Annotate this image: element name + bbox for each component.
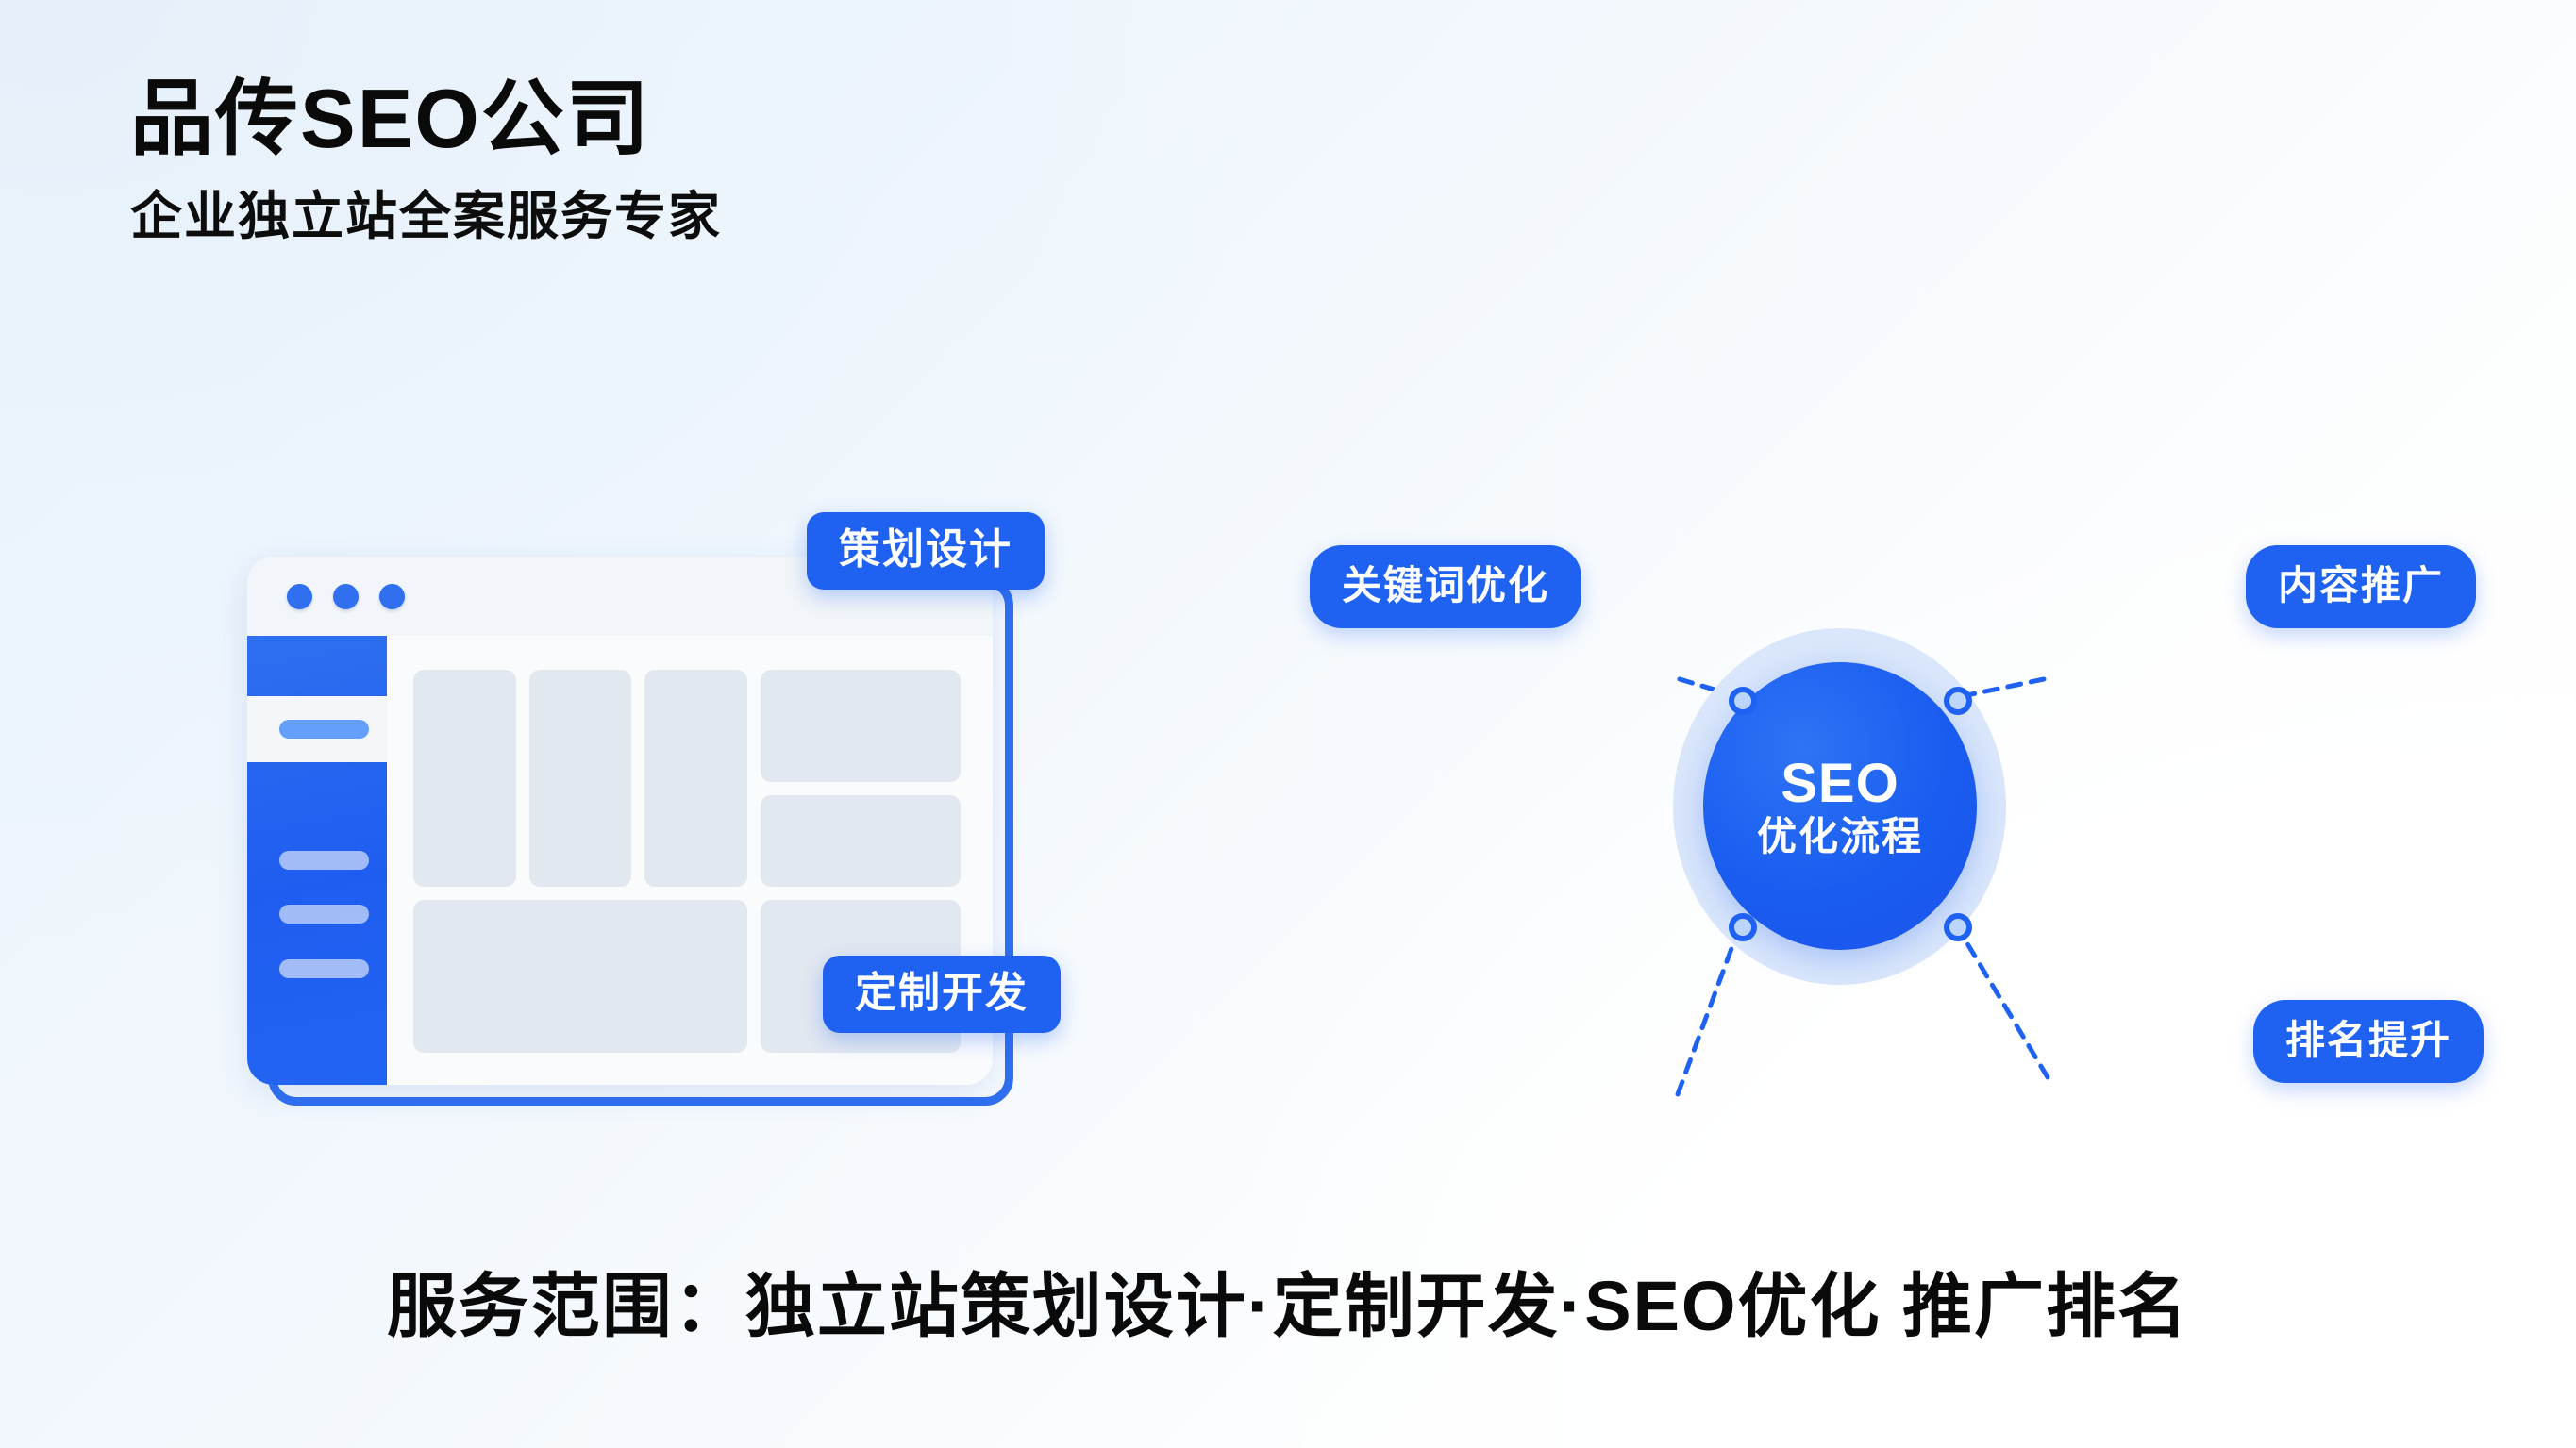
content-card-3 <box>644 670 747 887</box>
page-title: 品传SEO公司 <box>130 74 722 163</box>
header-block: 品传SEO公司 企业独立站全案服务专家 <box>130 74 722 245</box>
browser-sidebar <box>247 636 387 1085</box>
seo-center-subtitle: 优化流程 <box>1757 817 1923 857</box>
sidebar-item-2 <box>279 851 369 870</box>
content-card-2 <box>529 670 632 887</box>
content-card-5 <box>761 795 961 887</box>
sidebar-item-3 <box>279 905 369 924</box>
content-card-4 <box>761 670 961 782</box>
window-dot-icon-3 <box>379 584 405 609</box>
badge-custom-development[interactable]: 定制开发 <box>823 956 1061 1033</box>
node-bottom-left-icon <box>1729 913 1757 941</box>
content-card-1 <box>413 670 516 887</box>
content-card-6 <box>413 900 747 1053</box>
content-card-stack <box>761 670 961 887</box>
window-dot-icon-1 <box>287 584 312 609</box>
seo-label-content-promotion[interactable]: 内容推广 <box>2246 545 2476 628</box>
sidebar-item-bar-icon <box>279 720 369 739</box>
seo-process-diagram: SEO 优化流程 关键词优化 内容推广 排名提升 <box>1302 491 2529 1132</box>
seo-label-ranking-improvement[interactable]: 排名提升 <box>2253 1000 2484 1083</box>
footer-service-scope: 服务范围：独立站策划设计·定制开发·SEO优化 推广排名 <box>0 1250 2576 1351</box>
sidebar-item-4 <box>279 959 369 978</box>
node-top-left-icon <box>1729 687 1757 715</box>
window-dot-icon-2 <box>333 584 359 609</box>
seo-center-title: SEO <box>1781 757 1899 811</box>
page-subtitle: 企业独立站全案服务专家 <box>130 188 722 245</box>
node-top-right-icon <box>1944 687 1972 715</box>
seo-label-keyword-optimization[interactable]: 关键词优化 <box>1310 545 1581 628</box>
badge-planning-design[interactable]: 策划设计 <box>807 512 1045 590</box>
node-bottom-right-icon <box>1944 913 1972 941</box>
browser-mockup-illustration <box>247 557 1059 1123</box>
poster-canvas: 品传SEO公司 企业独立站全案服务专家 <box>0 0 2576 1448</box>
